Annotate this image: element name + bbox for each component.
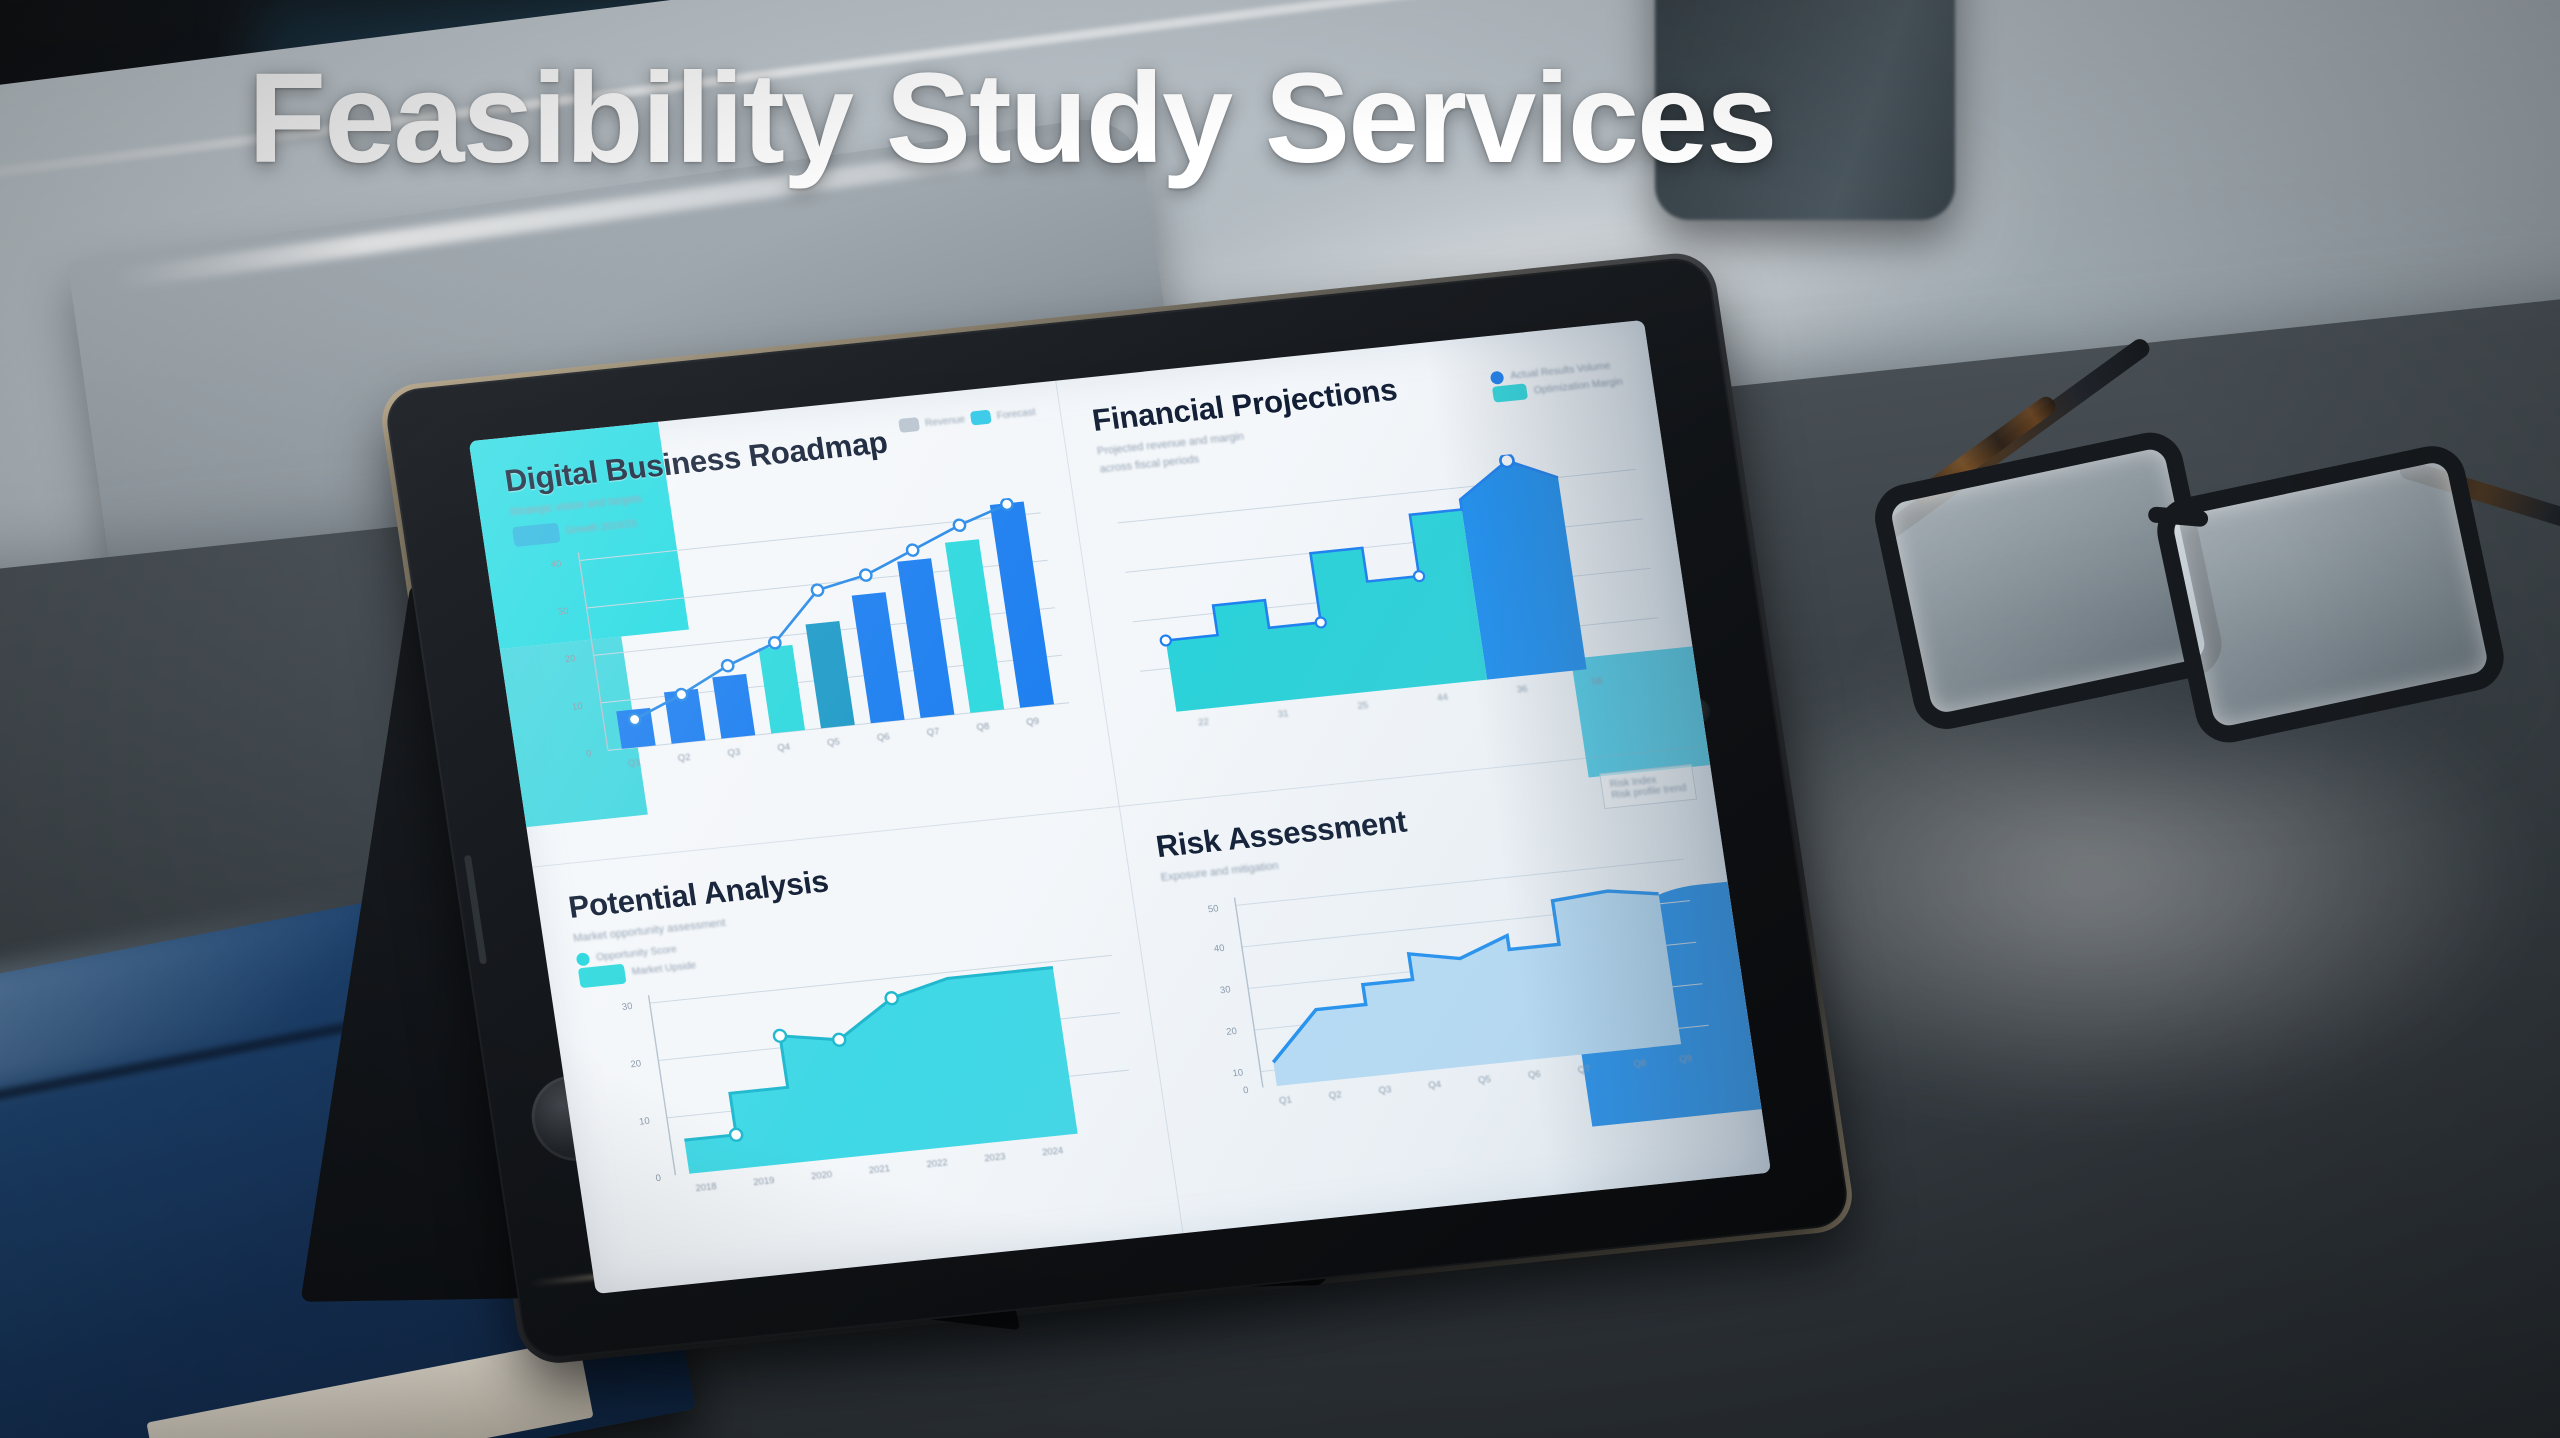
- tablet-bezel: Revenue Forecast Digital Business Roadma…: [382, 255, 1851, 1361]
- svg-text:Q3: Q3: [727, 747, 741, 759]
- chart-financial-projections: 2231 2544 3658: [1104, 441, 1679, 744]
- svg-text:Q7: Q7: [926, 726, 940, 738]
- tablet-screen[interactable]: Revenue Forecast Digital Business Roadma…: [469, 320, 1771, 1294]
- panel-potential-analysis[interactable]: Potential Analysis Market opportunity as…: [532, 807, 1183, 1294]
- svg-text:2024: 2024: [1041, 1145, 1064, 1158]
- legend-label-revenue: Revenue: [924, 414, 965, 429]
- legend-swatch-market-upside: [578, 964, 627, 989]
- svg-text:20: 20: [1226, 1026, 1238, 1038]
- svg-text:36: 36: [1516, 683, 1528, 695]
- panel-financial-projections[interactable]: Financial Projections Projected revenue …: [1056, 320, 1707, 807]
- svg-text:50: 50: [1207, 903, 1219, 915]
- svg-text:44: 44: [1436, 692, 1448, 704]
- svg-text:2021: 2021: [868, 1163, 891, 1176]
- svg-text:22: 22: [1198, 716, 1210, 728]
- scene-root: Revenue Forecast Digital Business Roadma…: [0, 0, 2560, 1438]
- svg-text:2019: 2019: [753, 1175, 776, 1188]
- panel-risk-assessment[interactable]: Risk Index Risk profile trend Risk Asses…: [1120, 746, 1771, 1233]
- svg-text:0: 0: [655, 1173, 662, 1184]
- panel-digital-business-roadmap[interactable]: Revenue Forecast Digital Business Roadma…: [469, 381, 1120, 868]
- legend-swatch-growth-index: [512, 522, 561, 547]
- svg-text:Q9: Q9: [1026, 716, 1040, 728]
- svg-text:Q5: Q5: [826, 736, 840, 748]
- tablet-side-button[interactable]: [464, 855, 487, 965]
- svg-text:0: 0: [1242, 1085, 1249, 1096]
- svg-text:40: 40: [1213, 943, 1225, 955]
- legend-swatch-forecast: [970, 410, 992, 426]
- legend-swatch-revenue: [898, 417, 920, 433]
- svg-text:20: 20: [564, 653, 576, 665]
- svg-text:40: 40: [550, 558, 562, 570]
- legend-dot-actual-results: [1490, 371, 1505, 385]
- svg-text:2023: 2023: [984, 1151, 1007, 1164]
- svg-text:Q5: Q5: [1477, 1074, 1491, 1086]
- svg-text:31: 31: [1277, 708, 1289, 720]
- tablet-device[interactable]: Revenue Forecast Digital Business Roadma…: [382, 255, 1857, 1401]
- chart-roadmap: 0 10 20 30 40: [515, 493, 1090, 796]
- svg-text:10: 10: [571, 701, 583, 713]
- svg-text:Q2: Q2: [1328, 1089, 1342, 1101]
- svg-text:Q1: Q1: [627, 757, 641, 769]
- svg-text:Q2: Q2: [677, 752, 691, 764]
- svg-text:2018: 2018: [695, 1181, 718, 1194]
- svg-text:Q3: Q3: [1378, 1084, 1392, 1096]
- svg-text:2020: 2020: [810, 1169, 833, 1182]
- svg-text:10: 10: [638, 1116, 650, 1128]
- svg-text:Q6: Q6: [1527, 1069, 1541, 1081]
- eyeglasses: [1867, 368, 2533, 753]
- svg-text:Q4: Q4: [777, 742, 791, 754]
- dashboard-grid: Revenue Forecast Digital Business Roadma…: [469, 320, 1771, 1294]
- page-title: Feasibility Study Services: [248, 52, 1775, 186]
- svg-text:58: 58: [1591, 676, 1603, 688]
- svg-text:20: 20: [630, 1058, 642, 1070]
- svg-text:30: 30: [557, 606, 569, 618]
- svg-text:10: 10: [1232, 1067, 1244, 1079]
- legend-label-market-upside: Market Upside: [631, 961, 697, 979]
- svg-text:30: 30: [621, 1001, 633, 1013]
- svg-text:30: 30: [1219, 984, 1231, 996]
- svg-text:0: 0: [585, 748, 592, 759]
- legend-swatch-optimization-margin: [1492, 383, 1528, 402]
- svg-text:Q6: Q6: [876, 731, 890, 743]
- legend-dot-opportunity-score: [576, 952, 591, 966]
- svg-text:Q4: Q4: [1428, 1079, 1442, 1091]
- svg-text:Q8: Q8: [976, 721, 990, 733]
- svg-text:Q1: Q1: [1278, 1094, 1292, 1106]
- eyeglasses-lens-right: [2151, 440, 2510, 749]
- legend-label-forecast: Forecast: [996, 406, 1036, 421]
- svg-text:Q9: Q9: [1679, 1053, 1693, 1065]
- chart-risk-assessment: 0 10 20 30 40 50 Q1Q2 Q3Q4 Q5Q6: [1164, 841, 1739, 1144]
- svg-text:25: 25: [1357, 700, 1369, 712]
- svg-text:Q7: Q7: [1577, 1064, 1591, 1076]
- legend-label-growth-index: Growth 2024/25: [565, 519, 637, 537]
- svg-text:2022: 2022: [926, 1157, 949, 1170]
- svg-text:Q8: Q8: [1633, 1058, 1647, 1070]
